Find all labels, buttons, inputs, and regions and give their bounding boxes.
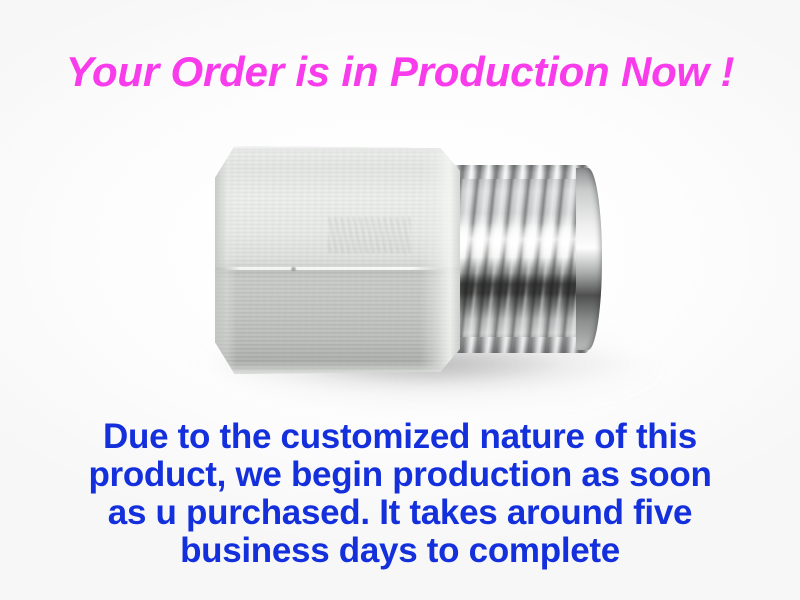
hex-surface-nick [291,267,296,271]
product-image [150,120,670,410]
promo-banner: Your Order is in Production Now ! [0,0,800,600]
notice-line-3: as u purchased. It takes around five [0,494,800,532]
hex-facet-right [420,146,460,374]
notice-line-2: product, we begin production as soon [0,456,800,494]
hex-chamfer-left [215,146,237,374]
hex-stamped-marking [328,217,411,253]
hex-nut-female-end [215,146,460,374]
notice-line-4: business days to complete [0,532,800,570]
hex-edge-top [215,146,460,153]
production-notice: Due to the customized nature of this pro… [0,418,800,570]
notice-line-1: Due to the customized nature of this [0,418,800,456]
page-title: Your Order is in Production Now ! [0,48,800,96]
